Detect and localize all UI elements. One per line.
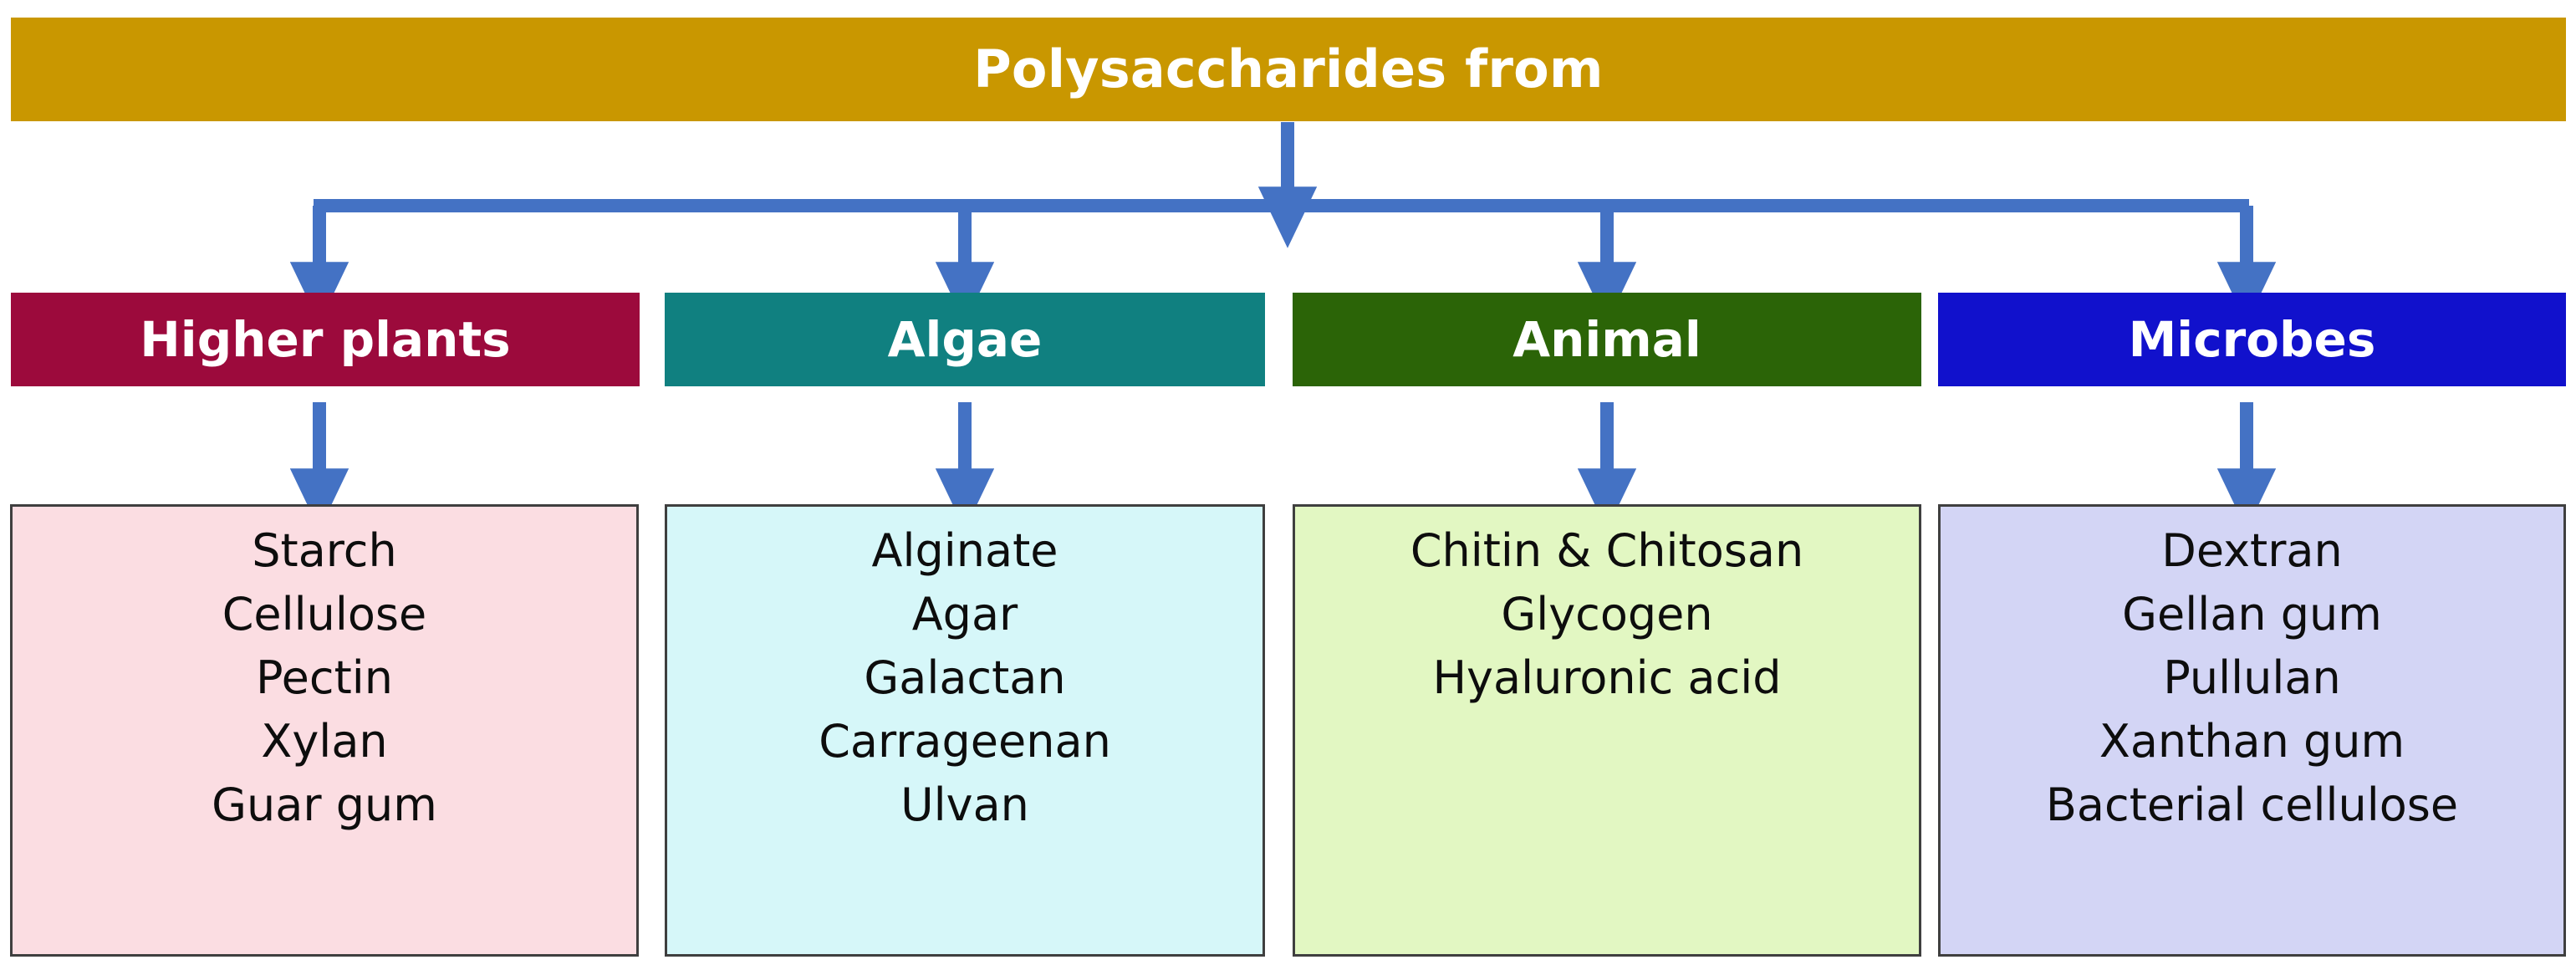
category-header-label: Algae	[888, 315, 1043, 364]
list-item: Glycogen	[1501, 592, 1712, 637]
list-item: Carrageenan	[819, 719, 1111, 764]
list-item: Xanthan gum	[2099, 719, 2405, 764]
category-body-higher-plants: StarchCellulosePectinXylanGuar gum	[10, 504, 639, 957]
list-item: Galactan	[864, 656, 1065, 701]
category-header-microbes[interactable]: Microbes	[1938, 293, 2566, 386]
polysaccharide-source-flowchart: Polysaccharides from Higher plants Starc…	[0, 0, 2576, 975]
list-item: Cellulose	[222, 592, 427, 637]
list-item: Starch	[252, 528, 396, 574]
category-header-animal[interactable]: Animal	[1293, 293, 1921, 386]
root-title-banner: Polysaccharides from	[11, 18, 2566, 121]
list-item: Gellan gum	[2122, 592, 2382, 637]
list-item: Pectin	[256, 656, 393, 701]
category-body-microbes: DextranGellan gumPullulanXanthan gumBact…	[1938, 504, 2566, 957]
list-item: Bacterial cellulose	[2046, 783, 2458, 828]
category-header-label: Microbes	[2129, 315, 2376, 364]
list-item: Agar	[912, 592, 1018, 637]
list-item: Guar gum	[212, 783, 437, 828]
category-header-label: Higher plants	[140, 315, 510, 364]
category-header-higher-plants[interactable]: Higher plants	[11, 293, 640, 386]
category-body-algae: AlginateAgarGalactanCarrageenanUlvan	[665, 504, 1265, 957]
category-header-algae[interactable]: Algae	[665, 293, 1265, 386]
list-item: Hyaluronic acid	[1432, 656, 1781, 701]
root-title-text: Polysaccharides from	[973, 43, 1603, 95]
list-item: Chitin & Chitosan	[1410, 528, 1803, 574]
list-item: Pullulan	[2163, 656, 2340, 701]
list-item: Dextran	[2161, 528, 2343, 574]
list-item: Alginate	[872, 528, 1058, 574]
category-header-label: Animal	[1512, 315, 1701, 364]
list-item: Ulvan	[900, 783, 1029, 828]
list-item: Xylan	[261, 719, 387, 764]
category-body-animal: Chitin & ChitosanGlycogenHyaluronic acid	[1293, 504, 1921, 957]
